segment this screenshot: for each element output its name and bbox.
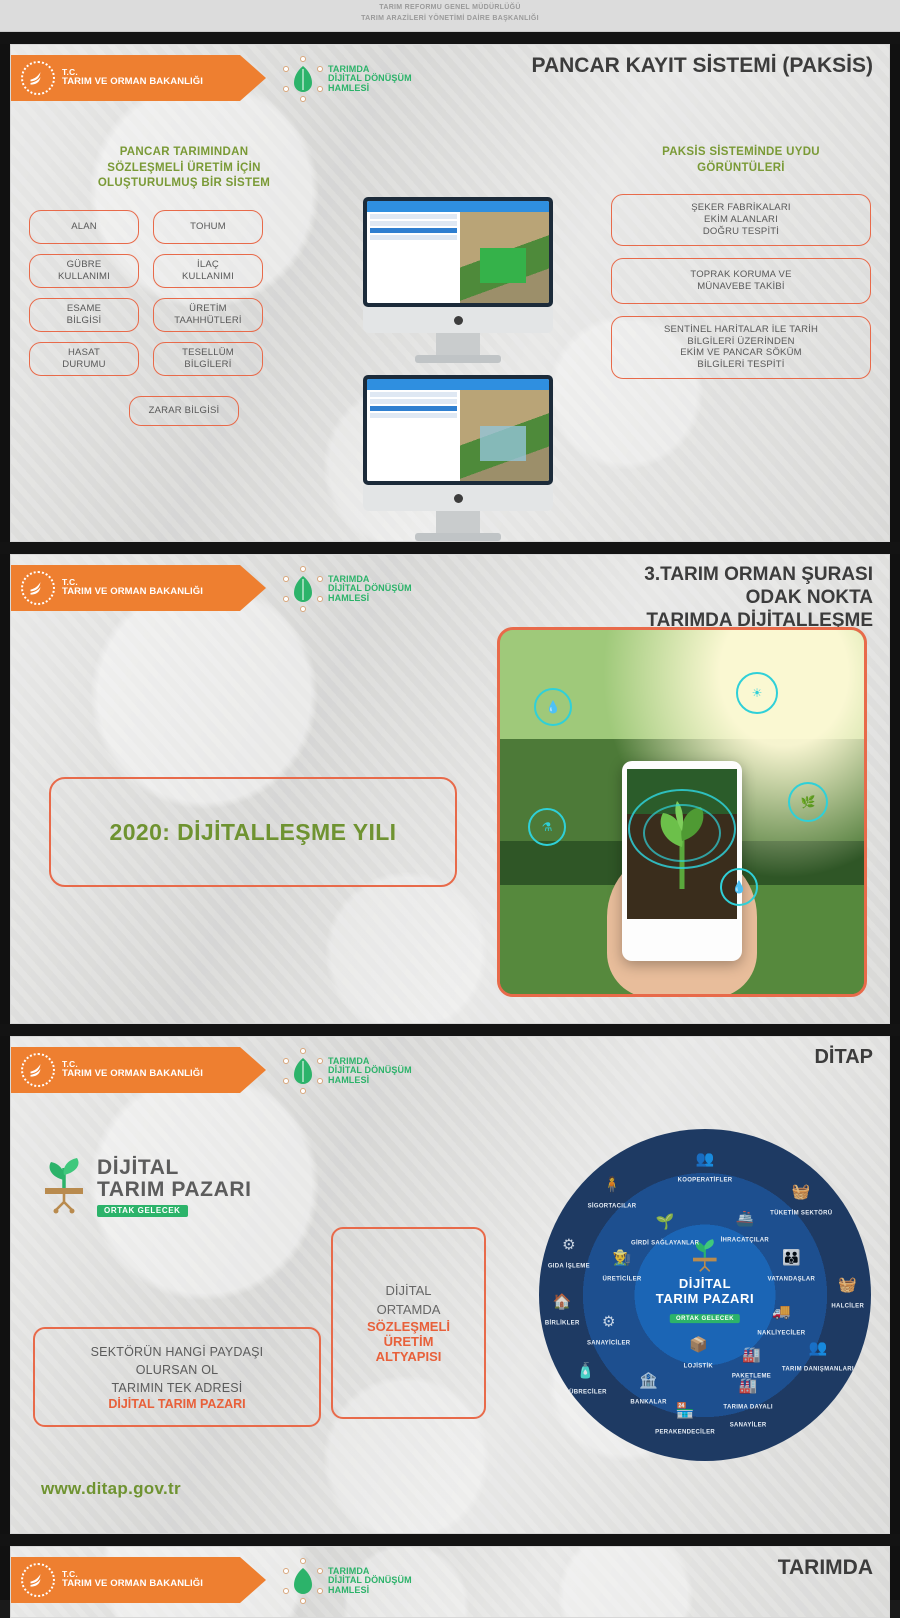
- wheel-node[interactable]: 👥KOOPERATİFLER: [665, 1151, 745, 1186]
- ditap-claim-box[interactable]: SEKTÖRÜN HANGİ PAYDAŞI OLURSAN OL TARIMI…: [33, 1327, 321, 1427]
- monitor-top: [363, 197, 553, 363]
- left-column-heading: PANCAR TARIMINDAN SÖZLEŞMELİ ÜRETİM İÇİN…: [29, 145, 339, 192]
- hamle-logo: TARIMDA DİJİTAL DÖNÜŞÜM HAMLESİ: [283, 57, 412, 101]
- slide-divider: [0, 1024, 900, 1036]
- ditap-ecosystem-wheel: DİJİTAL TARIM PAZARI ORTAK GELECEK 👥KOOP…: [539, 1129, 871, 1461]
- monitor-logo-dot: [454, 494, 463, 503]
- app-topbar: [367, 201, 549, 212]
- pill-item[interactable]: TOHUM: [153, 210, 263, 244]
- slide-sura: T.C. TARIM VE ORMAN BAKANLIĞI TARI: [10, 554, 890, 1024]
- paksis-pill-grid: ALAN TOHUM GÜBRE KULLANIMI İLAÇ KULLANIM…: [29, 210, 339, 426]
- right-heading-line1: PAKSİS SİSTEMİNDE UYDU: [611, 145, 871, 161]
- pill-item[interactable]: TESELLÜM BİLGİLERİ: [153, 342, 263, 376]
- ministry-seal-icon: [21, 61, 55, 95]
- wheel-center-line1: DİJİTAL: [656, 1277, 754, 1292]
- left-heading-line2: SÖZLEŞMELİ ÜRETİM İÇİN: [29, 161, 339, 177]
- wheel-node-label: SİGORTACILAR: [588, 1204, 637, 1210]
- year-banner-text: 2020: DİJİTALLEŞME YILI: [110, 819, 397, 846]
- wheel-node-icon: 🌱: [625, 1214, 705, 1229]
- wheel-node-icon: 🏦: [609, 1374, 689, 1389]
- wheel-node-icon: 🧺: [808, 1278, 871, 1293]
- slide-ditap: T.C. TARIM VE ORMAN BAKANLIĞI TARI: [10, 1036, 890, 1534]
- wheel-node-label: TARIMA DAYALI SANAYİLER: [723, 1404, 772, 1428]
- nutrients-icon: ⚗: [528, 808, 566, 846]
- wheel-node-label: NAKLİYECİLER: [757, 1330, 805, 1336]
- infra-line2: ORTAMDA: [377, 1301, 441, 1319]
- ditap-logo: DİJİTAL TARIM PAZARI ORTAK GELECEK: [41, 1157, 252, 1217]
- slide-header: T.C. TARIM VE ORMAN BAKANLIĞI TARI: [11, 1547, 889, 1611]
- wheel-node-icon: 🚚: [741, 1304, 821, 1319]
- water-drop-icon: 💧: [534, 688, 572, 726]
- hamle-line3: HAMLESİ: [328, 84, 412, 93]
- wheel-node-label: SANAYİCİLER: [587, 1340, 630, 1346]
- hamle-line3: HAMLESİ: [328, 1076, 412, 1085]
- wheel-node-label: HALCİLER: [831, 1304, 864, 1310]
- monitor-bottom: [363, 375, 553, 541]
- wheel-node-icon: ⚙: [569, 1314, 649, 1329]
- wheel-node[interactable]: 🧍SİGORTACILAR: [572, 1178, 652, 1213]
- slide-divider: [0, 542, 900, 554]
- claim-highlight: DİJİTAL TARIM PAZARI: [108, 1397, 245, 1411]
- wheel-center-logo: DİJİTAL TARIM PAZARI ORTAK GELECEK: [656, 1239, 754, 1325]
- infra-highlight1: SÖZLEŞMELİ: [367, 1319, 450, 1334]
- pill-item[interactable]: İLAÇ KULLANIMI: [153, 254, 263, 288]
- satellite-benefit-list: ŞEKER FABRİKALARI EKİM ALANLARI DOĞRU TE…: [611, 194, 871, 379]
- hexagon-network-icon: [283, 1050, 323, 1092]
- wheel-node[interactable]: ⚙SANAYİCİLER: [569, 1314, 649, 1349]
- ministry-logo-tag: T.C. TARIM VE ORMAN BAKANLIĞI: [11, 55, 266, 101]
- claim-line1: SEKTÖRÜN HANGİ PAYDAŞI: [91, 1343, 264, 1361]
- claim-line3: TARIMIN TEK ADRESİ: [112, 1379, 243, 1397]
- wheel-node-label: GİRDİ SAĞLAYANLAR: [631, 1240, 699, 1246]
- slide-header: T.C. TARIM VE ORMAN BAKANLIĞI TAR: [11, 45, 889, 109]
- claim-line2: OLURSAN OL: [136, 1361, 219, 1379]
- left-heading-line1: PANCAR TARIMINDAN: [29, 145, 339, 161]
- ministry-line2: TARIM VE ORMAN BAKANLIĞI: [62, 1069, 203, 1080]
- top-partial-line1: TARIM REFORMU GENEL MÜDÜRLÜĞÜ: [0, 3, 900, 14]
- wheel-node-icon: 🏭: [708, 1378, 788, 1393]
- pill-item[interactable]: ESAME BİLGİSİ: [29, 298, 139, 332]
- crescent-leaf-glyph: [28, 68, 48, 88]
- year-banner: 2020: DİJİTALLEŞME YILI: [49, 777, 457, 887]
- paksis-right-column: PAKSİS SİSTEMİNDE UYDU GÖRÜNTÜLERİ ŞEKER…: [611, 145, 871, 379]
- leaf-icon: [292, 1568, 314, 1594]
- hamle-logo: TARIMDA DİJİTAL DÖNÜŞÜM HAMLESİ: [283, 1049, 412, 1093]
- app-table-panel: [367, 212, 460, 303]
- sura-title-line1: 3.TARIM ORMAN ŞURASI: [644, 563, 873, 586]
- wheel-node[interactable]: 👨‍🌾ÜRETİCİLER: [582, 1251, 662, 1286]
- wheel-center-badge: ORTAK GELECEK: [670, 1314, 740, 1323]
- slide-title: TARIMDA: [778, 1555, 873, 1581]
- sura-title-line2: ODAK NOKTA: [644, 586, 873, 609]
- wheel-node-label: İHRACATÇILAR: [721, 1237, 769, 1243]
- wheel-center-line2: TARIM PAZARI: [656, 1292, 754, 1307]
- slide-divider: [0, 32, 900, 44]
- hamle-logo: TARIMDA DİJİTAL DÖNÜŞÜM HAMLESİ: [283, 567, 412, 611]
- left-heading-line3: OLUŞTURULMUŞ BİR SİSTEM: [29, 176, 339, 192]
- smartphone: [622, 761, 742, 961]
- irrigation-icon: 💧: [720, 868, 758, 906]
- leaf-icon: [292, 66, 314, 92]
- ministry-logo-tag: T.C. TARIM VE ORMAN BAKANLIĞI: [11, 565, 266, 611]
- wheel-node-icon: 🚢: [705, 1211, 785, 1226]
- wheel-node-icon: 👪: [751, 1251, 831, 1266]
- slide-title: 3.TARIM ORMAN ŞURASI ODAK NOKTA TARIMDA …: [644, 563, 873, 633]
- infra-highlight3: ALTYAPISI: [376, 1349, 442, 1364]
- hamle-logo: TARIMDA DİJİTAL DÖNÜŞÜM HAMLESİ: [283, 1559, 412, 1603]
- infra-line1: DİJİTAL: [386, 1282, 432, 1300]
- hamle-line3: HAMLESİ: [328, 1586, 412, 1595]
- wheel-node-icon: 🏪: [645, 1404, 725, 1419]
- hexagon-network-icon: [283, 58, 323, 100]
- wheel-node[interactable]: 🌱GİRDİ SAĞLAYANLAR: [625, 1214, 705, 1249]
- ministry-seal-icon: [21, 571, 55, 605]
- ministry-logo-tag: T.C. TARIM VE ORMAN BAKANLIĞI: [11, 1557, 266, 1603]
- right-heading-line2: GÖRÜNTÜLERİ: [611, 161, 871, 177]
- benefit-box[interactable]: TOPRAK KORUMA VE MÜNAVEBE TAKİBİ: [611, 258, 871, 304]
- leaf-icon: [292, 1058, 314, 1084]
- wheel-node-icon: 👨‍🌾: [582, 1251, 662, 1266]
- slide-header: T.C. TARIM VE ORMAN BAKANLIĞI TARI: [11, 555, 889, 619]
- slide-divider: [0, 1534, 900, 1546]
- slide-title: DİTAP: [814, 1045, 873, 1069]
- ministry-seal-icon: [21, 1053, 55, 1087]
- pill-item[interactable]: ÜRETİM TAAHHÜTLERİ: [153, 298, 263, 332]
- wheel-node-label: PERAKENDECİLER: [655, 1430, 715, 1436]
- hamle-line3: HAMLESİ: [328, 594, 412, 603]
- top-partial-text: TARIM REFORMU GENEL MÜDÜRLÜĞÜ TARIM ARAZ…: [0, 3, 900, 24]
- wheel-node-label: TARIM DANIŞMANLARI: [782, 1367, 854, 1373]
- pill-item[interactable]: HASAT DURUMU: [29, 342, 139, 376]
- hexagon-network-icon: [283, 1560, 323, 1602]
- wheel-node-label: KOOPERATİFLER: [678, 1177, 733, 1183]
- pill-item[interactable]: GÜBRE KULLANIMI: [29, 254, 139, 288]
- wheel-node-label: ÜRETİCİLER: [603, 1277, 642, 1283]
- paksis-left-column: PANCAR TARIMINDAN SÖZLEŞMELİ ÜRETİM İÇİN…: [29, 145, 339, 426]
- pill-item[interactable]: ALAN: [29, 210, 139, 244]
- slide-top-partial: TARIM REFORMU GENEL MÜDÜRLÜĞÜ TARIM ARAZ…: [0, 0, 900, 32]
- leaf-icon: [292, 576, 314, 602]
- wheel-node-icon: 🧍: [572, 1178, 652, 1193]
- slide-title: PANCAR KAYIT SİSTEMİ (PAKSİS): [532, 53, 873, 79]
- ditap-logo-badge: ORTAK GELECEK: [97, 1205, 188, 1217]
- digital-agriculture-photo: 💧 ☀ 🌿 ⚗ 💧: [497, 627, 867, 997]
- infra-highlight2: ÜRETİM: [384, 1334, 434, 1349]
- right-column-heading: PAKSİS SİSTEMİNDE UYDU GÖRÜNTÜLERİ: [611, 145, 871, 176]
- ditap-plant-icon: [41, 1158, 87, 1216]
- satellite-map-panel: [460, 212, 549, 303]
- ministry-line2: TARIM VE ORMAN BAKANLIĞI: [62, 1579, 203, 1590]
- app-topbar: [367, 379, 549, 390]
- wheel-node[interactable]: 🏪PERAKENDECİLER: [645, 1404, 725, 1439]
- sun-icon: ☀: [736, 672, 778, 714]
- slide-next-partial: T.C. TARIM VE ORMAN BAKANLIĞI TARI: [10, 1546, 890, 1618]
- wheel-node-icon: 🧺: [761, 1185, 841, 1200]
- app-table-panel: [367, 390, 460, 481]
- ministry-logo-tag: T.C. TARIM VE ORMAN BAKANLIĞI: [11, 1047, 266, 1093]
- hexagon-network-icon: [283, 568, 323, 610]
- wheel-node-icon: 👥: [665, 1151, 745, 1166]
- ditap-logo-line1: DİJİTAL: [97, 1157, 252, 1179]
- pill-item-zarar[interactable]: ZARAR BİLGİSİ: [129, 396, 239, 426]
- wheel-node-icon: 👥: [778, 1341, 858, 1356]
- wheel-node-label: GÜBRECİLER: [564, 1390, 607, 1396]
- wheel-node-label: LOJİSTİK: [684, 1363, 713, 1369]
- slide-header: T.C. TARIM VE ORMAN BAKANLIĞI TARI: [11, 1037, 889, 1101]
- presentation-deck: TARIM REFORMU GENEL MÜDÜRLÜĞÜ TARIM ARAZ…: [0, 0, 900, 1600]
- benefit-box[interactable]: SENTİNEL HARİTALAR İLE TARİH BİLGİLERİ Ü…: [611, 316, 871, 380]
- wheel-node[interactable]: 🚢İHRACATÇILAR: [705, 1211, 785, 1246]
- benefit-box[interactable]: ŞEKER FABRİKALARI EKİM ALANLARI DOĞRU TE…: [611, 194, 871, 246]
- ministry-line2: TARIM VE ORMAN BAKANLIĞI: [62, 587, 203, 598]
- ministry-seal-icon: [21, 1563, 55, 1597]
- wheel-node-icon: 🏠: [539, 1294, 602, 1309]
- ditap-infrastructure-box[interactable]: DİJİTAL ORTAMDA SÖZLEŞMELİ ÜRETİM ALTYAP…: [331, 1227, 486, 1419]
- ministry-line2: TARIM VE ORMAN BAKANLIĞI: [62, 77, 203, 88]
- satellite-map-panel: [460, 390, 549, 481]
- ditap-website-url[interactable]: www.ditap.gov.tr: [41, 1479, 181, 1499]
- slide-paksis: T.C. TARIM VE ORMAN BAKANLIĞI TAR: [10, 44, 890, 542]
- leaf-meter-icon: 🌿: [788, 782, 828, 822]
- wheel-node[interactable]: 🚚NAKLİYECİLER: [741, 1304, 821, 1339]
- top-partial-line2: TARIM ARAZİLERİ YÖNETİMİ DAİRE BAŞKANLIĞ…: [0, 14, 900, 25]
- ditap-logo-line2: TARIM PAZARI: [97, 1179, 252, 1201]
- monitor-logo-dot: [454, 316, 463, 325]
- wheel-node[interactable]: 👥TARIM DANIŞMANLARI: [778, 1341, 858, 1376]
